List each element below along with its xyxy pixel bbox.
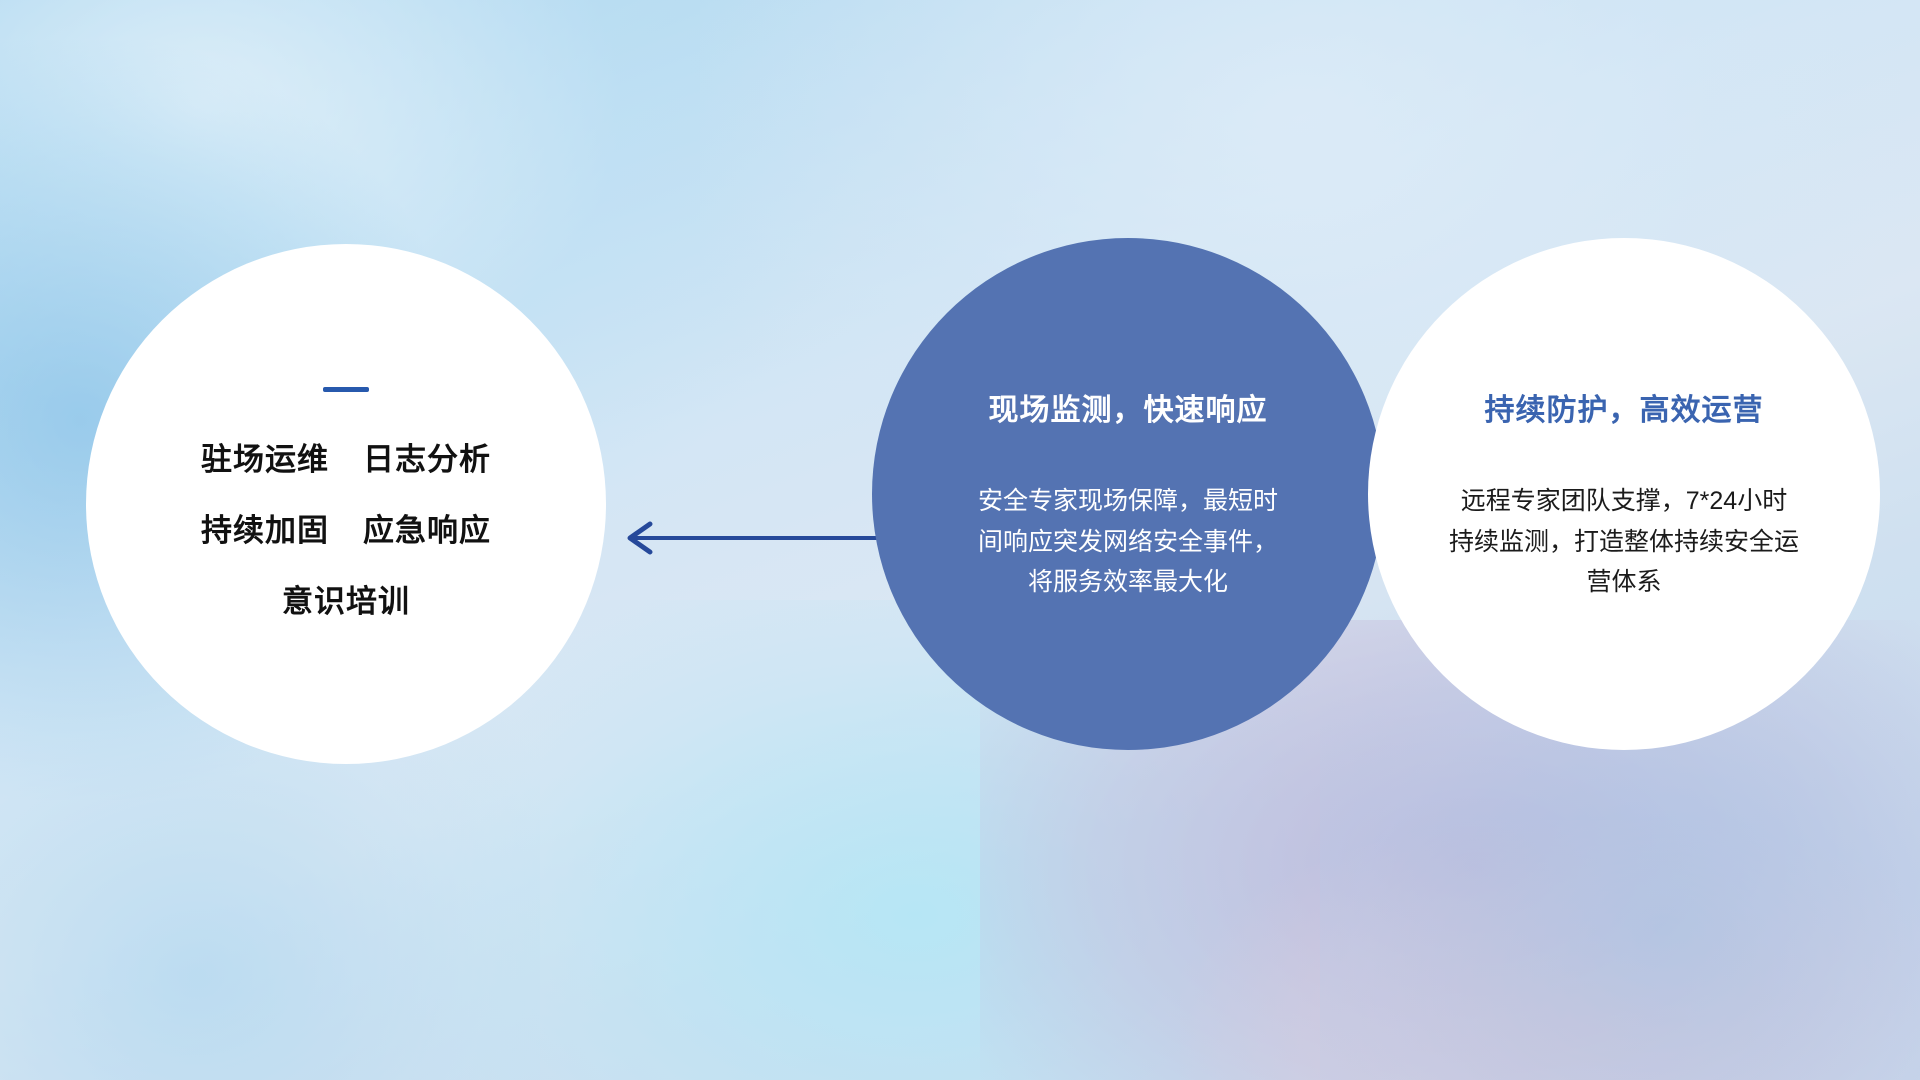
capability-row: 意识培训: [282, 576, 410, 621]
continuous-protection-circle: 持续防护，高效运营 远程专家团队支撑，7*24小时持续监测，打造整体持续安全运营…: [1368, 238, 1880, 750]
capability-keyword: 驻场运维: [201, 434, 329, 479]
onsite-monitoring-circle: 现场监测，快速响应 安全专家现场保障，最短时间响应突发网络安全事件，将服务效率最…: [872, 238, 1384, 750]
capability-keyword: 日志分析: [363, 434, 491, 479]
title-divider-rule: [323, 387, 369, 392]
capabilities-circle: 驻场运维 日志分析 持续加固 应急响应 意识培训: [86, 244, 606, 764]
capability-keyword: 意识培训: [282, 576, 410, 621]
capability-keyword: 持续加固: [201, 505, 329, 550]
capability-keyword-grid: 驻场运维 日志分析 持续加固 应急响应 意识培训: [201, 434, 491, 621]
onsite-monitoring-title: 现场监测，快速响应: [989, 385, 1268, 429]
continuous-protection-title: 持续防护，高效运营: [1485, 385, 1764, 429]
slide-canvas: 驻场运维 日志分析 持续加固 应急响应 意识培训 现场监测，快速响应 安全专家现…: [0, 0, 1920, 1080]
capability-keyword: 应急响应: [363, 505, 491, 550]
arrow-left-icon: [610, 518, 900, 558]
continuous-protection-body: 远程专家团队支撑，7*24小时持续监测，打造整体持续安全运营体系: [1449, 481, 1799, 603]
capability-row: 持续加固 应急响应: [201, 505, 491, 550]
onsite-monitoring-body: 安全专家现场保障，最短时间响应突发网络安全事件，将服务效率最大化: [978, 481, 1278, 603]
capability-row: 驻场运维 日志分析: [201, 434, 491, 479]
